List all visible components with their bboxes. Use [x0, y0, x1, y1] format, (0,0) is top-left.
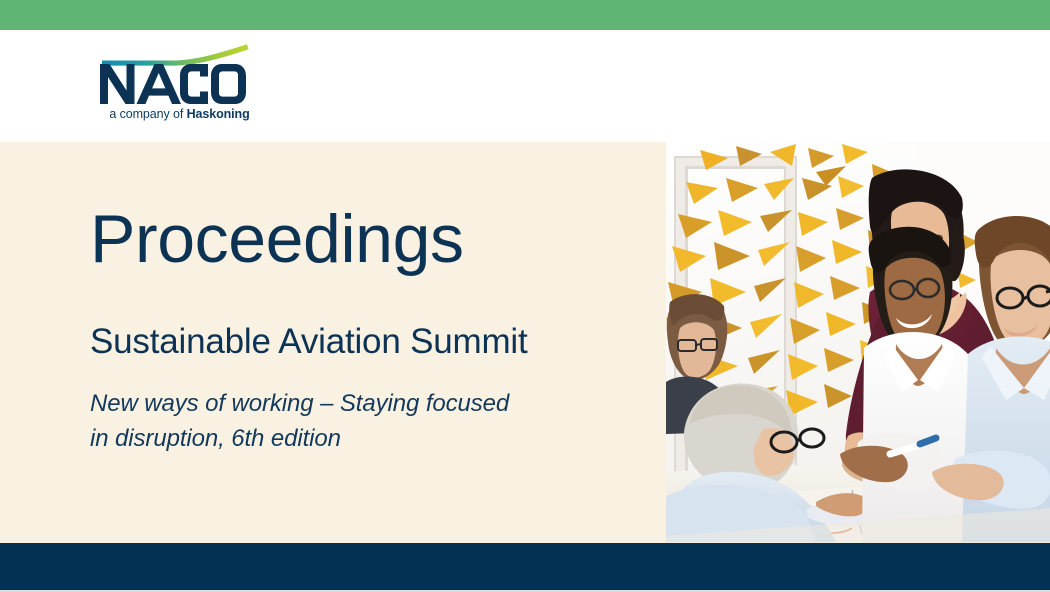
logo-wordmark — [98, 60, 248, 106]
logo-tagline: a company of Haskoning — [92, 107, 267, 121]
bottom-accent-band — [0, 543, 1050, 590]
page-tagline-line-2: in disruption, 6th edition — [90, 421, 660, 456]
logo-tagline-prefix: a company of — [109, 107, 186, 121]
page-tagline-line-1: New ways of working – Staying focused — [90, 386, 660, 421]
slide-text-block: Proceedings Sustainable Aviation Summit … — [90, 200, 660, 456]
top-accent-band — [0, 0, 1050, 30]
hero-photo-illustration — [666, 142, 1050, 543]
page-tagline: New ways of working – Staying focused in… — [90, 386, 660, 456]
slide-header: a company of Haskoning — [0, 30, 1050, 142]
hero-photo — [666, 142, 1050, 543]
naco-logo: a company of Haskoning — [92, 43, 267, 128]
page-subtitle: Sustainable Aviation Summit — [90, 320, 660, 364]
presentation-slide: a company of Haskoning Proceedings Susta… — [0, 0, 1050, 592]
logo-tagline-brand: Haskoning — [187, 107, 250, 121]
page-title: Proceedings — [90, 200, 660, 278]
